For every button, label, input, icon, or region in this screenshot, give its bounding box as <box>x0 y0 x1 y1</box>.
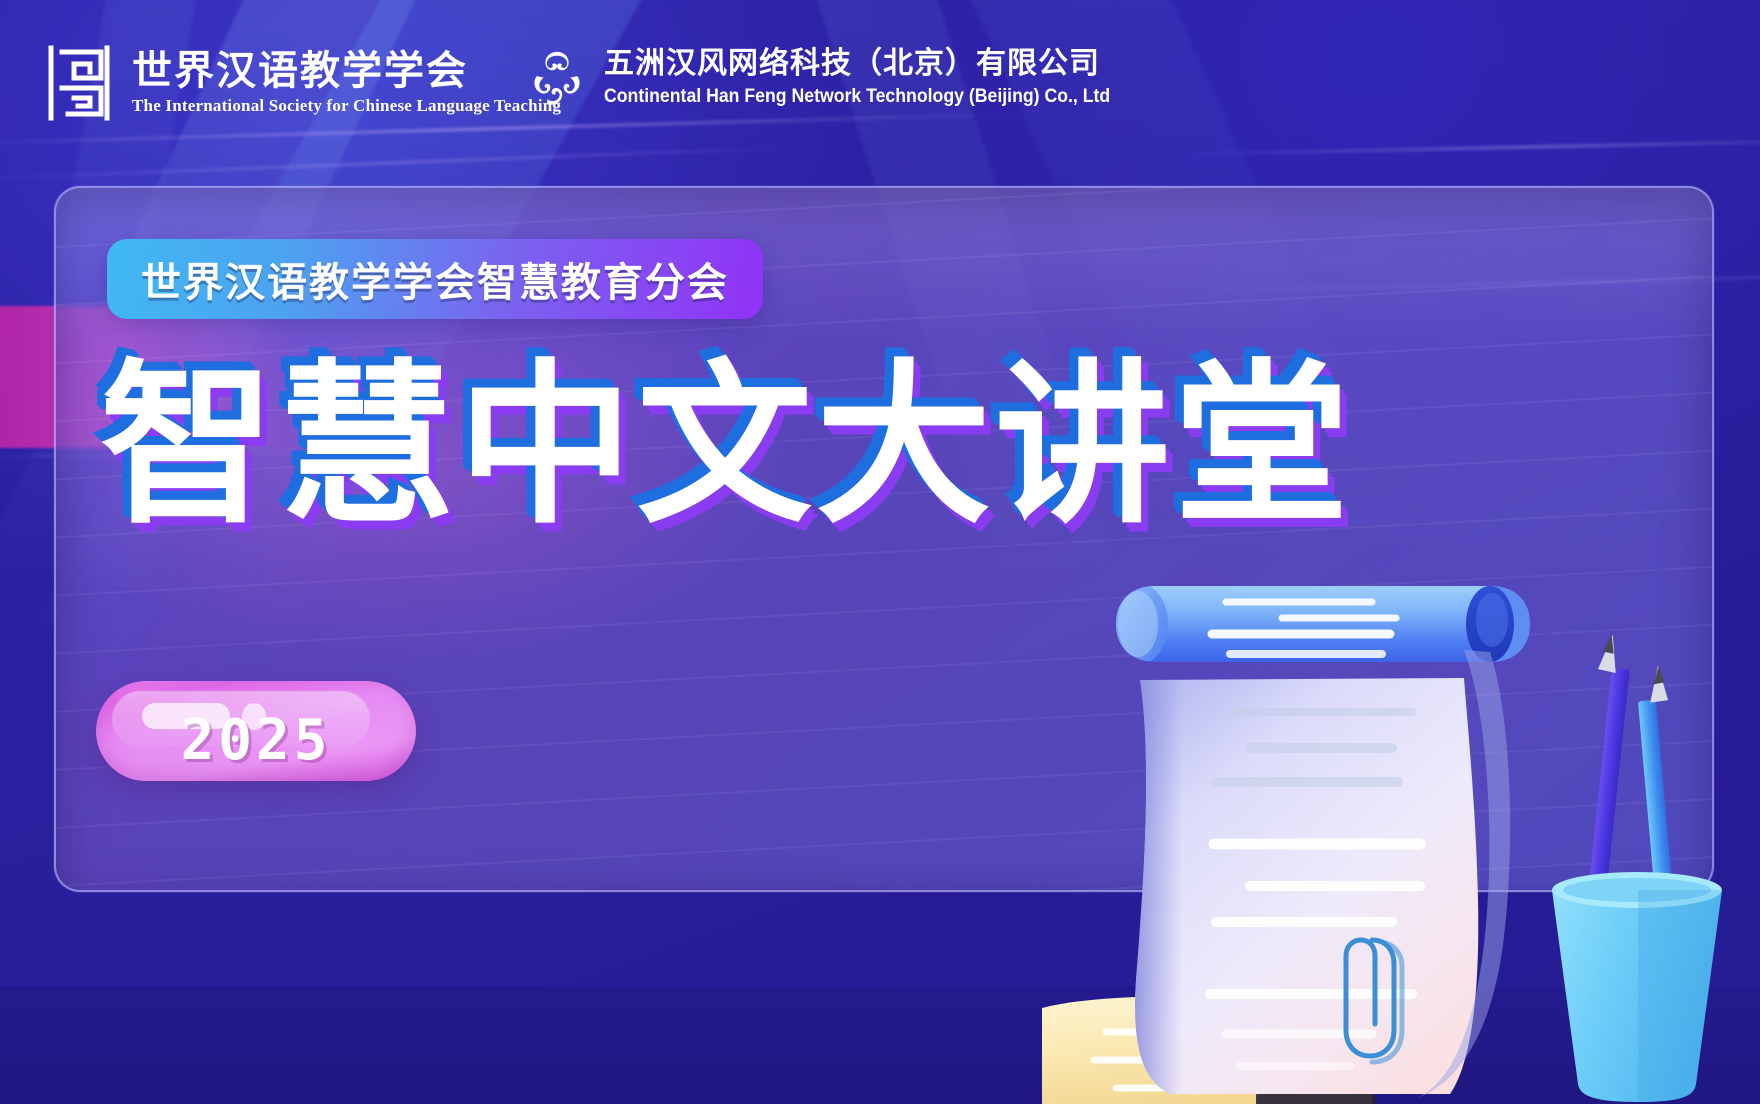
year-capsule: 2025 <box>96 681 416 781</box>
company-name-cn: 五洲汉风网络科技（北京）有限公司 <box>604 46 1148 82</box>
company-logo-group: 五洲汉风网络科技（北京）有限公司 Continental Han Feng Ne… <box>528 46 1148 109</box>
subsociety-badge-label: 世界汉语教学学会智慧教育分会 <box>141 250 729 308</box>
society-name-en: The International Society for Chinese La… <box>132 95 561 117</box>
subsociety-badge: 世界汉语教学学会智慧教育分会 <box>107 239 763 319</box>
society-name-cn: 世界汉语教学学会 <box>132 49 561 93</box>
page-title: 智慧中文大讲堂 <box>100 352 1353 542</box>
company-name-en: Continental Han Feng Network Technology … <box>604 85 1110 109</box>
han-feng-swirl-icon <box>528 48 586 108</box>
society-logo-group: 世界汉语教学学会 The International Society for C… <box>44 44 561 122</box>
paper-sheet <box>1130 670 1478 1104</box>
society-logo-text: 世界汉语教学学会 The International Society for C… <box>132 49 561 117</box>
paper-scroll-illustration <box>1020 560 1760 1104</box>
year-label: 2025 <box>96 681 416 781</box>
header-bar: 世界汉语教学学会 The International Society for C… <box>0 0 1760 150</box>
company-logo-text: 五洲汉风网络科技（北京）有限公司 Continental Han Feng Ne… <box>604 46 1148 109</box>
society-seal-icon <box>44 44 114 122</box>
pencil-cup-group <box>1552 633 1722 1102</box>
